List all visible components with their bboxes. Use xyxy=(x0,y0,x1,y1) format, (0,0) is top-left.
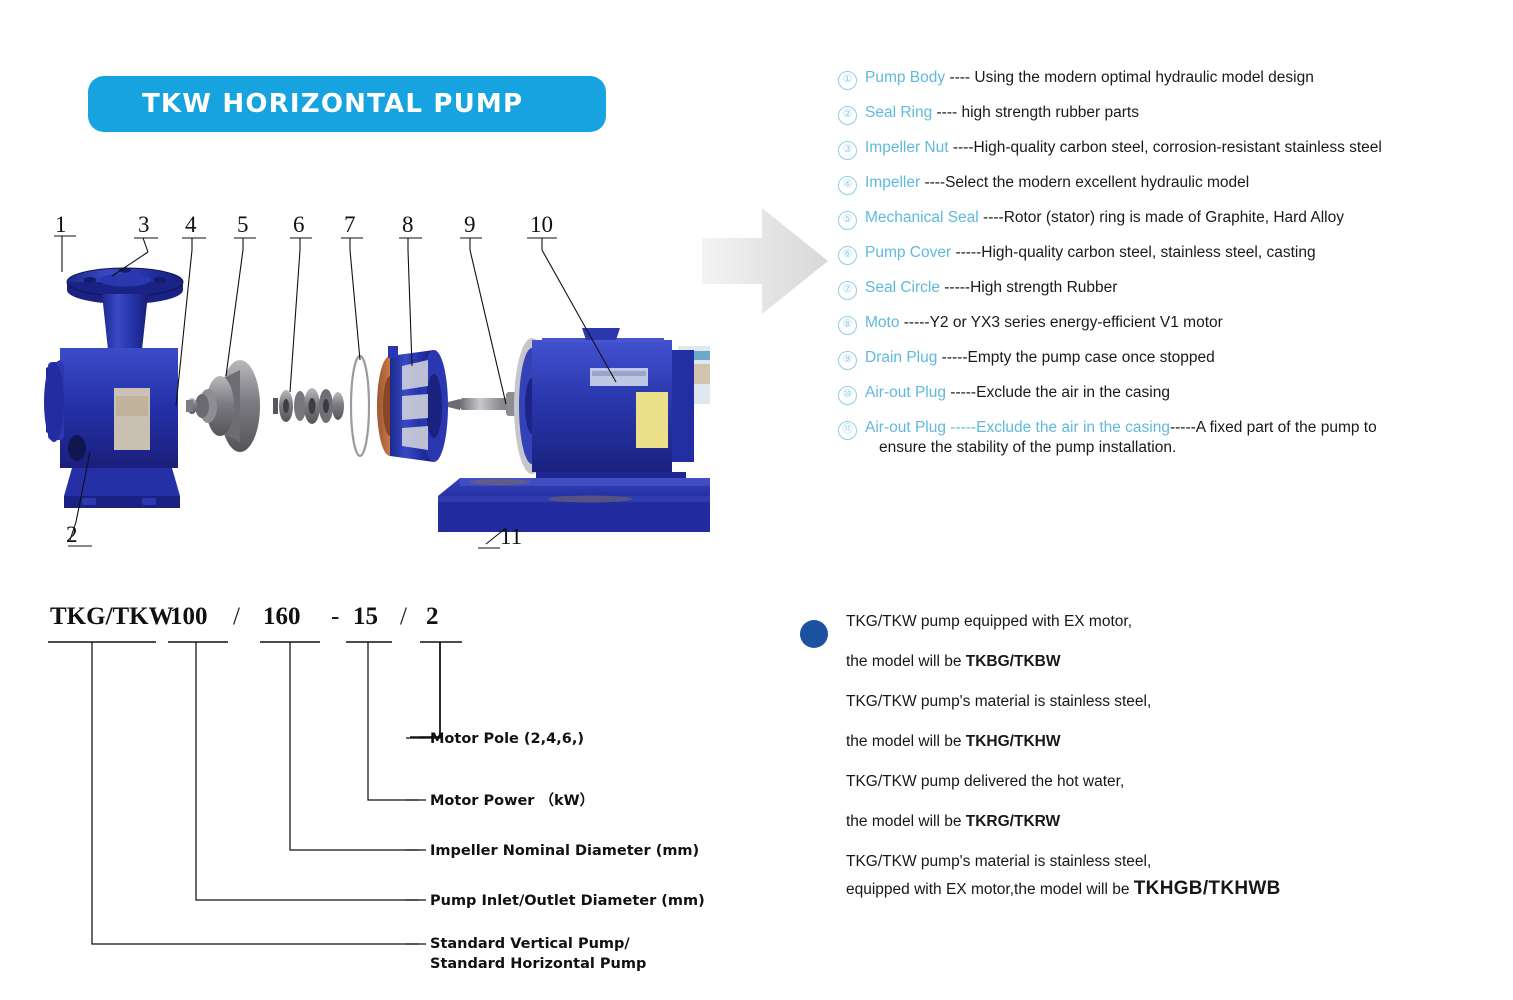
legend-description: -----A fixed part of the pump to xyxy=(1170,419,1377,436)
page-title: TKW HORIZONTAL PUMP xyxy=(142,89,523,119)
legend-part-name: Pump Cover xyxy=(865,244,951,261)
note-line: the model will be TKHG/TKHW xyxy=(846,732,1440,753)
legend-description: High-quality carbon steel, corrosion-res… xyxy=(974,139,1382,156)
model-segment-power: 15 xyxy=(353,603,378,630)
note-line: TKG/TKW pump equipped with EX motor, xyxy=(846,612,1440,633)
parts-legend-list: ① Pump Body ---- Using the modern optima… xyxy=(838,68,1510,471)
note-text: TKG/TKW pump's material is stainless ste… xyxy=(846,693,1151,710)
legend-text: Impeller ----Select the modern excellent… xyxy=(865,173,1510,193)
legend-description: Empty the pump case once stopped xyxy=(968,349,1215,366)
note-text: TKG/TKW pump's material is stainless ste… xyxy=(846,853,1151,870)
legend-part-name: Impeller xyxy=(865,174,920,191)
legend-item: ⑥ Pump Cover -----High-quality carbon st… xyxy=(838,243,1510,265)
legend-part-name: Moto xyxy=(865,314,899,331)
note-line: the model will be TKBG/TKBW xyxy=(846,652,1440,673)
model-leaders xyxy=(420,642,440,737)
legend-description: Rotor (stator) ring is made of Graphite,… xyxy=(1004,209,1344,226)
note-text: equipped with EX motor,the model will be xyxy=(846,881,1134,898)
legend-description: High-quality carbon steel, stainless ste… xyxy=(981,244,1315,261)
legend-dash: ----- xyxy=(899,314,929,331)
impeller-nut-graphic xyxy=(186,398,197,414)
legend-number-icon: ⑧ xyxy=(838,316,857,335)
legend-number-icon: ⑩ xyxy=(838,386,857,405)
legend-dash: ---- xyxy=(979,209,1004,226)
model-label-standard-2: Standard Horizontal Pump xyxy=(430,956,646,972)
legend-text: Pump Cover -----High-quality carbon stee… xyxy=(865,243,1510,263)
legend-part-name: Seal Circle xyxy=(865,279,940,296)
legend-item: ⑧ Moto -----Y2 or YX3 series energy-effi… xyxy=(838,313,1510,335)
legend-dash: ---- xyxy=(945,69,974,86)
legend-part-name: Mechanical Seal xyxy=(865,209,979,226)
legend-dash: ---- xyxy=(920,174,945,191)
note-text: the model will be xyxy=(846,653,966,670)
legend-number-icon: ⑨ xyxy=(838,351,857,370)
model-separator-slash-1: / xyxy=(233,603,240,630)
note-line: TKG/TKW pump's material is stainless ste… xyxy=(846,852,1440,873)
note-line: TKG/TKW pump's material is stainless ste… xyxy=(846,692,1440,713)
note-model-code: TKBG/TKBW xyxy=(966,653,1061,670)
seal-circle-graphic xyxy=(351,356,369,456)
base-plate-graphic xyxy=(438,478,710,532)
legend-item: ④ Impeller ----Select the modern excelle… xyxy=(838,173,1510,195)
model-segment-series: TKG/TKW xyxy=(50,603,174,630)
note-text: the model will be xyxy=(846,733,966,750)
legend-dash: ---- xyxy=(932,104,961,121)
legend-item: ⑪ Air-out Plug -----Exclude the air in t… xyxy=(838,418,1510,458)
legend-part-name: Impeller Nut xyxy=(865,139,949,156)
legend-part-name: Drain Plug xyxy=(865,349,937,366)
legend-item: ⑨ Drain Plug -----Empty the pump case on… xyxy=(838,348,1510,370)
legend-item: ⑩ Air-out Plug -----Exclude the air in t… xyxy=(838,383,1510,405)
model-label-inlet-outlet: Pump Inlet/Outlet Diameter (mm) xyxy=(430,893,705,909)
model-leader-routes xyxy=(92,642,440,944)
legend-part-name: Air-out Plug xyxy=(865,419,946,436)
legend-text: Drain Plug -----Empty the pump case once… xyxy=(865,348,1510,368)
model-label-motor-power: Motor Power （kW） xyxy=(430,791,594,809)
model-label-impeller-dia: Impeller Nominal Diameter (mm) xyxy=(430,843,699,859)
legend-part-name: Seal Ring xyxy=(865,104,932,121)
pump-body-graphic xyxy=(44,267,183,508)
callout-5: 5 xyxy=(237,212,249,237)
legend-item: ⑤ Mechanical Seal ----Rotor (stator) rin… xyxy=(838,208,1510,230)
legend-text: Seal Circle -----High strength Rubber xyxy=(865,278,1510,298)
callout-11: 11 xyxy=(500,524,522,549)
legend-item: ③ Impeller Nut ----High-quality carbon s… xyxy=(838,138,1510,160)
legend-description: Select the modern excellent hydraulic mo… xyxy=(945,174,1249,191)
legend-text: Air-out Plug -----Exclude the air in the… xyxy=(865,418,1510,458)
legend-number-icon: ⑦ xyxy=(838,281,857,300)
callout-9: 9 xyxy=(464,212,476,237)
legend-text: Moto -----Y2 or YX3 series energy-effici… xyxy=(865,313,1510,333)
legend-text: Seal Ring ---- high strength rubber part… xyxy=(865,103,1510,123)
legend-text: Mechanical Seal ----Rotor (stator) ring … xyxy=(865,208,1510,228)
legend-description: Exclude the air in the casing xyxy=(976,384,1170,401)
legend-description: Y2 or YX3 series energy-efficient V1 mot… xyxy=(930,314,1223,331)
flow-arrow-icon xyxy=(700,196,840,326)
note-line: the model will be TKRG/TKRW xyxy=(846,812,1440,833)
note-model-code: TKHG/TKHW xyxy=(966,733,1061,750)
note-line: TKG/TKW pump delivered the hot water, xyxy=(846,772,1440,793)
callout-2: 2 xyxy=(66,522,78,547)
legend-dash: ----- xyxy=(946,384,976,401)
callout-1: 1 xyxy=(55,212,67,237)
legend-dash: ----- xyxy=(940,279,970,296)
legend-number-icon: ② xyxy=(838,106,857,125)
legend-part-name: Pump Body xyxy=(865,69,945,86)
model-label-motor-pole: Motor Pole (2,4,6,) xyxy=(430,731,584,747)
legend-description: Using the modern optimal hydraulic model… xyxy=(974,69,1313,86)
legend-dash: ----- xyxy=(946,419,976,436)
callout-10: 10 xyxy=(530,212,553,237)
legend-text: Impeller Nut ----High-quality carbon ste… xyxy=(865,138,1510,158)
legend-item: ⑦ Seal Circle -----High strength Rubber xyxy=(838,278,1510,300)
model-designation-diagram: TKG/TKW 100 / 160 - 15 / 2 xyxy=(28,592,728,972)
legend-number-icon: ④ xyxy=(838,176,857,195)
impeller-graphic xyxy=(195,360,260,452)
model-label-ticks xyxy=(406,738,426,944)
bullet-icon xyxy=(800,620,828,648)
legend-number-icon: ⑪ xyxy=(838,421,857,440)
legend-item: ② Seal Ring ---- high strength rubber pa… xyxy=(838,103,1510,125)
callout-3: 3 xyxy=(138,212,150,237)
legend-dash: ----- xyxy=(937,349,967,366)
page-title-banner: TKW HORIZONTAL PUMP xyxy=(88,76,606,132)
model-separator-slash-2: / xyxy=(400,603,407,630)
model-label-standard-1: Standard Vertical Pump/ xyxy=(430,936,630,952)
callout-4: 4 xyxy=(185,212,197,237)
callout-8: 8 xyxy=(402,212,414,237)
pump-cover-graphic xyxy=(377,346,448,462)
note-line: equipped with EX motor,the model will be… xyxy=(846,876,1440,902)
legend-item: ① Pump Body ---- Using the modern optima… xyxy=(838,68,1510,90)
legend-dash: ----- xyxy=(951,244,981,261)
model-segment-impeller: 160 xyxy=(263,603,301,630)
model-variant-notes: TKG/TKW pump equipped with EX motor, the… xyxy=(800,612,1440,921)
callout-7: 7 xyxy=(344,212,356,237)
legend-description-continued: ensure the stability of the pump install… xyxy=(879,438,1510,458)
legend-dash: ---- xyxy=(949,139,974,156)
legend-number-icon: ① xyxy=(838,71,857,90)
legend-text: Air-out Plug -----Exclude the air in the… xyxy=(865,383,1510,403)
note-text: the model will be xyxy=(846,813,966,830)
model-segment-pole: 2 xyxy=(426,603,439,630)
note-text: TKG/TKW pump delivered the hot water, xyxy=(846,773,1124,790)
motor-graphic xyxy=(514,328,710,494)
exploded-pump-diagram: 1 3 4 5 6 7 8 9 10 2 11 xyxy=(30,210,710,570)
note-model-code: TKRG/TKRW xyxy=(966,813,1060,830)
model-separator-dash: - xyxy=(331,603,339,630)
callout-6: 6 xyxy=(293,212,305,237)
model-segment-inlet: 100 xyxy=(170,603,208,630)
legend-text: Pump Body ---- Using the modern optimal … xyxy=(865,68,1510,88)
legend-number-icon: ③ xyxy=(838,141,857,160)
mechanical-seal-graphic xyxy=(273,388,344,424)
legend-number-icon: ⑥ xyxy=(838,246,857,265)
legend-part-name: Air-out Plug xyxy=(865,384,946,401)
note-model-code: TKHGB/TKHWB xyxy=(1134,878,1281,899)
legend-description: high strength rubber parts xyxy=(961,104,1139,121)
legend-description: High strength Rubber xyxy=(970,279,1117,296)
model-leader-lines xyxy=(410,642,440,737)
legend-number-icon: ⑤ xyxy=(838,211,857,230)
note-text: TKG/TKW pump equipped with EX motor, xyxy=(846,613,1132,630)
legend-description-blue: Exclude the air in the casing xyxy=(976,419,1170,436)
